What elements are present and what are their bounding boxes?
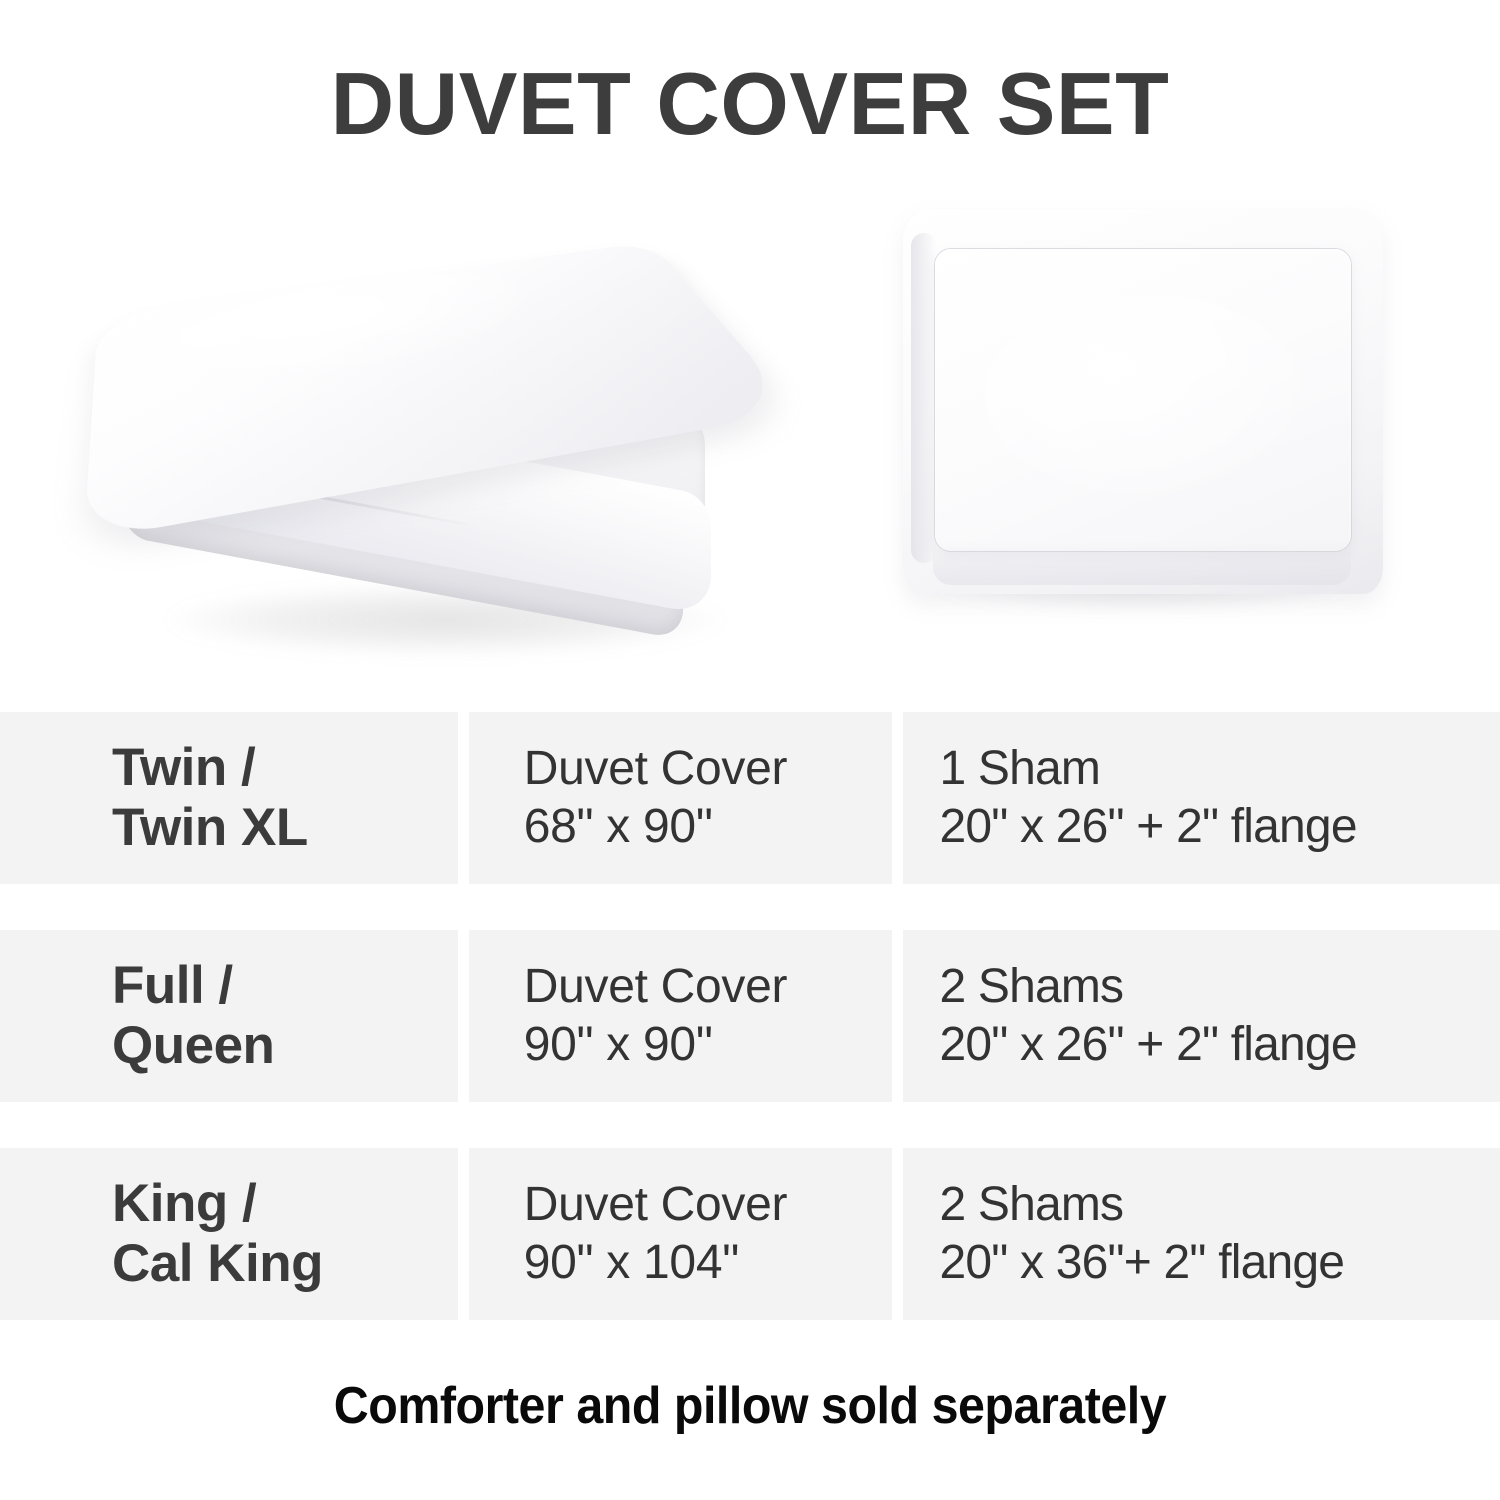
- table-row: Full / Queen Duvet Cover 90" x 90" 2 Sha…: [0, 930, 1500, 1102]
- folded-duvet-cover-image: [105, 195, 805, 665]
- sham-left-edge-shading: [911, 233, 937, 563]
- table-row: Twin / Twin XL Duvet Cover 68" x 90" 1 S…: [0, 712, 1500, 884]
- sham-count-label: 2 Shams: [939, 1176, 1500, 1234]
- size-cell: Twin / Twin XL: [0, 712, 458, 884]
- product-image-band: [0, 185, 1500, 685]
- footer-disclaimer: Comforter and pillow sold separately: [53, 1376, 1448, 1436]
- duvet-label: Duvet Cover: [524, 740, 893, 798]
- sham-bottom-edge-shading: [933, 541, 1351, 585]
- sham-dimensions: 20" x 26" + 2" flange: [939, 1016, 1500, 1074]
- duvet-dimensions: 68" x 90": [524, 798, 893, 856]
- size-label-line2: Twin XL: [112, 798, 458, 858]
- duvet-label: Duvet Cover: [524, 958, 893, 1016]
- size-spec-table: Twin / Twin XL Duvet Cover 68" x 90" 1 S…: [0, 712, 1500, 1366]
- sham-center-highlight: [985, 295, 1305, 495]
- sham-cell: 2 Shams 20" x 26" + 2" flange: [903, 930, 1500, 1102]
- sham-cell: 1 Sham 20" x 26" + 2" flange: [903, 712, 1500, 884]
- size-label-line2: Cal King: [112, 1234, 458, 1294]
- duvet-cell: Duvet Cover 68" x 90": [469, 712, 893, 884]
- size-label-line1: Twin /: [112, 738, 458, 798]
- size-cell: King / Cal King: [0, 1148, 458, 1320]
- size-label-line1: King /: [112, 1174, 458, 1234]
- sham-count-label: 1 Sham: [939, 740, 1500, 798]
- sham-cell: 2 Shams 20" x 36"+ 2" flange: [903, 1148, 1500, 1320]
- duvet-label: Duvet Cover: [524, 1176, 893, 1234]
- table-row: King / Cal King Duvet Cover 90" x 104" 2…: [0, 1148, 1500, 1320]
- sham-dimensions: 20" x 36"+ 2" flange: [939, 1234, 1500, 1292]
- duvet-dimensions: 90" x 90": [524, 1016, 893, 1074]
- duvet-cell: Duvet Cover 90" x 90": [469, 930, 893, 1102]
- sham-count-label: 2 Shams: [939, 958, 1500, 1016]
- size-label-line1: Full /: [112, 956, 458, 1016]
- duvet-dimensions: 90" x 104": [524, 1234, 893, 1292]
- pillow-sham-image: [893, 203, 1393, 613]
- size-cell: Full / Queen: [0, 930, 458, 1102]
- size-label-line2: Queen: [112, 1016, 458, 1076]
- duvet-cell: Duvet Cover 90" x 104": [469, 1148, 893, 1320]
- page-title: DUVET COVER SET: [0, 60, 1500, 148]
- sham-dimensions: 20" x 26" + 2" flange: [939, 798, 1500, 856]
